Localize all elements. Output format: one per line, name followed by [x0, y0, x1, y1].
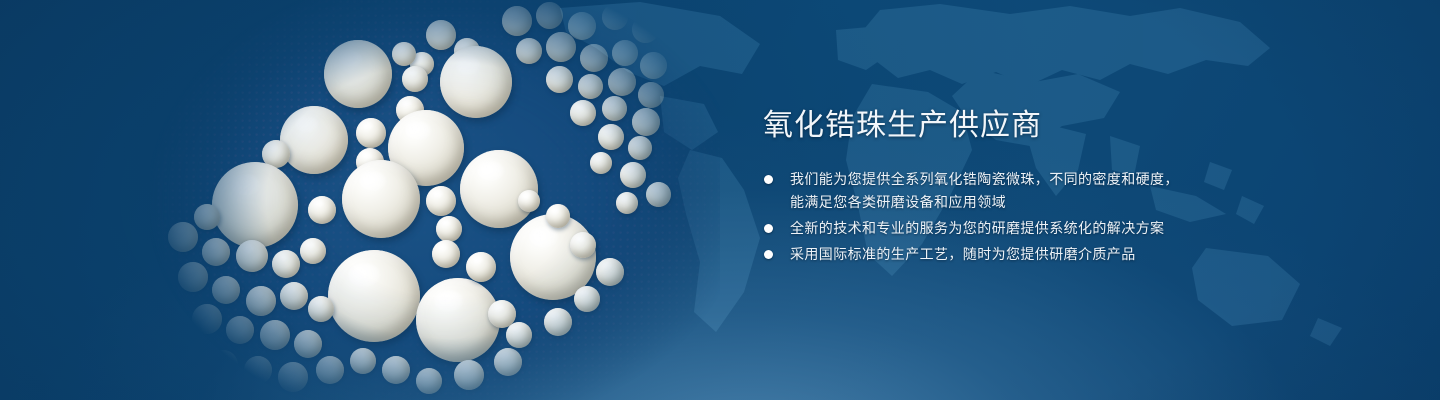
bead	[328, 250, 420, 342]
bead	[632, 16, 659, 43]
bead	[612, 40, 638, 66]
banner-copy: 氧化锆珠生产供应商 我们能为您提供全系列氧化锆陶瓷微珠，不同的密度和硬度， 能满…	[763, 106, 1233, 269]
list-item-line1: 采用国际标准的生产工艺，随时为您提供研磨介质产品	[790, 246, 1136, 262]
bead	[546, 66, 573, 93]
bead	[590, 152, 612, 174]
bead-cluster	[150, 0, 720, 400]
bead	[608, 68, 636, 96]
feature-list: 我们能为您提供全系列氧化锆陶瓷微珠，不同的密度和硬度， 能满足您各类研磨设备和应…	[763, 168, 1233, 266]
bead	[236, 240, 268, 272]
bullet-dot-icon	[764, 175, 773, 184]
bead	[628, 136, 652, 160]
bead	[324, 40, 392, 108]
bead	[570, 100, 596, 126]
bead	[602, 4, 628, 30]
bead	[280, 106, 348, 174]
bead	[432, 240, 460, 268]
bead	[632, 108, 660, 136]
bead	[178, 262, 208, 292]
bead	[416, 278, 500, 362]
bead	[436, 216, 462, 242]
bead	[574, 286, 600, 312]
bead	[278, 362, 308, 392]
bead	[578, 74, 603, 99]
bead	[416, 368, 442, 394]
bead	[212, 162, 298, 248]
bead	[460, 150, 538, 228]
bead	[356, 118, 386, 148]
bead	[616, 192, 638, 214]
bead	[494, 348, 522, 376]
bead	[598, 124, 624, 150]
bead	[244, 356, 272, 384]
bead	[466, 252, 496, 282]
page-title: 氧化锆珠生产供应商	[763, 106, 1233, 146]
bead	[208, 350, 238, 380]
bead	[440, 46, 512, 118]
hero-banner: 氧化锆珠生产供应商 我们能为您提供全系列氧化锆陶瓷微珠，不同的密度和硬度， 能满…	[0, 0, 1440, 400]
bead	[300, 238, 326, 264]
bead	[570, 232, 596, 258]
list-item: 采用国际标准的生产工艺，随时为您提供研磨介质产品	[763, 243, 1233, 266]
bead	[544, 308, 572, 336]
bead	[280, 282, 308, 310]
bead	[580, 44, 608, 72]
bead	[426, 20, 456, 50]
bead	[316, 356, 344, 384]
list-item-line1: 我们能为您提供全系列氧化锆陶瓷微珠，不同的密度和硬度，	[790, 171, 1179, 187]
bead	[518, 190, 540, 212]
bead	[350, 348, 376, 374]
bead	[516, 38, 542, 64]
bead	[382, 356, 410, 384]
bead	[212, 276, 240, 304]
bead	[602, 96, 627, 121]
bead	[260, 320, 290, 350]
bead	[294, 330, 322, 358]
bullet-dot-icon	[764, 250, 773, 259]
bead	[568, 12, 596, 40]
bead	[502, 6, 532, 36]
bead	[646, 182, 671, 207]
bead	[546, 204, 570, 228]
bead	[454, 360, 484, 390]
bead	[596, 258, 624, 286]
bead	[536, 2, 563, 29]
bead	[226, 316, 254, 344]
list-item: 全新的技术和专业的服务为您的研磨提供系统化的解决方案	[763, 217, 1233, 240]
bead	[192, 304, 222, 334]
bullet-dot-icon	[764, 224, 773, 233]
bead	[402, 66, 428, 92]
bead	[342, 160, 420, 238]
bead	[272, 250, 300, 278]
list-item-line1: 全新的技术和专业的服务为您的研磨提供系统化的解决方案	[790, 220, 1164, 236]
bead	[194, 204, 220, 230]
bead	[640, 52, 667, 79]
bead	[638, 82, 664, 108]
list-item-line2: 能满足您各类研磨设备和应用领域	[790, 191, 1233, 214]
bead	[308, 196, 336, 224]
bead	[426, 186, 456, 216]
bead	[246, 286, 276, 316]
bead	[392, 42, 416, 66]
bead	[546, 32, 576, 62]
bead	[506, 322, 532, 348]
bead	[620, 162, 646, 188]
bead	[308, 296, 334, 322]
bead	[202, 238, 230, 266]
zirconia-beads-photo	[150, 0, 720, 400]
list-item: 我们能为您提供全系列氧化锆陶瓷微珠，不同的密度和硬度， 能满足您各类研磨设备和应…	[763, 168, 1233, 214]
bead	[168, 222, 198, 252]
